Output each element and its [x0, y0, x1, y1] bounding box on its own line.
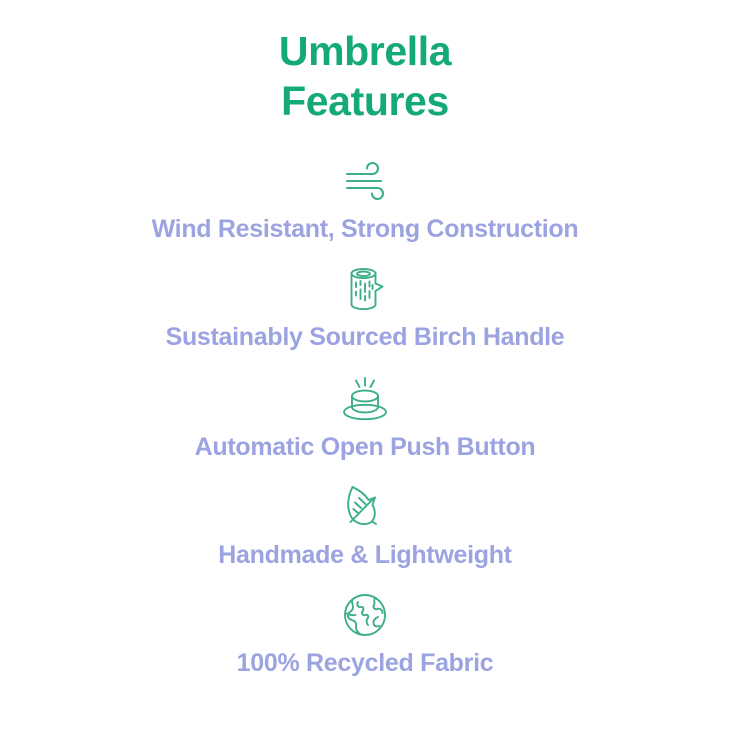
page-title-line-2: Features	[0, 76, 730, 126]
feature-item: Wind Resistant, Strong Construction	[0, 148, 730, 244]
page-title-line-1: Umbrella	[0, 26, 730, 76]
umbrella-features-infographic: Umbrella Features Wind Resistant, Strong…	[0, 0, 730, 730]
page-title: Umbrella Features	[0, 26, 730, 126]
feature-label: Sustainably Sourced Birch Handle	[166, 322, 565, 352]
feature-label: Handmade & Lightweight	[218, 540, 511, 570]
wind-icon	[334, 150, 396, 212]
push-button-icon	[334, 368, 396, 430]
birch-log-icon	[334, 258, 396, 320]
feature-label: Automatic Open Push Button	[195, 432, 536, 462]
feature-item: Automatic Open Push Button	[0, 356, 730, 462]
feature-label: 100% Recycled Fabric	[237, 648, 494, 678]
feature-item: 100% Recycled Fabric	[0, 574, 730, 678]
feature-item: Handmade & Lightweight	[0, 466, 730, 570]
feature-list: Wind Resistant, Strong Construction	[0, 148, 730, 682]
feature-label: Wind Resistant, Strong Construction	[152, 214, 579, 244]
globe-icon	[334, 584, 396, 646]
feature-item: Sustainably Sourced Birch Handle	[0, 248, 730, 352]
feather-icon	[334, 476, 396, 538]
